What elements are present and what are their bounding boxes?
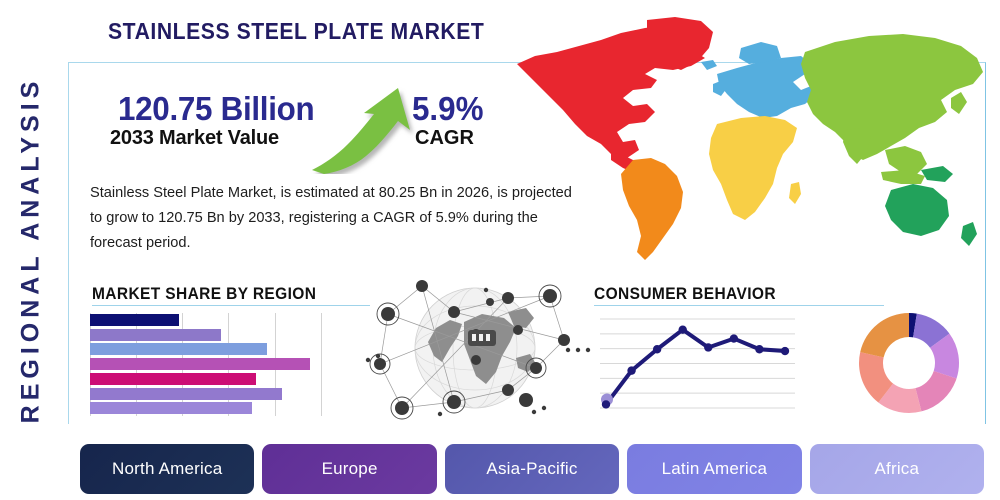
bar-chart-bar <box>90 358 310 370</box>
line-chart-marker <box>704 343 712 351</box>
line-chart-gridlines <box>600 319 795 408</box>
line-chart-marker <box>602 400 610 408</box>
bar-chart-row <box>90 401 330 416</box>
bar-chart-bar <box>90 373 256 385</box>
donut-segment <box>860 313 909 357</box>
line-chart-marker <box>627 366 635 374</box>
bar-chart-bar <box>90 388 282 400</box>
map-region-iceland <box>701 60 717 70</box>
page-title: STAINLESS STEEL PLATE MARKET <box>108 18 484 45</box>
global-network-icon <box>358 272 593 424</box>
market-value-figure: 120.75 Billion <box>118 90 314 128</box>
region-button[interactable]: North America <box>80 444 254 494</box>
donut-chart <box>857 311 961 415</box>
map-region-africa <box>709 116 797 220</box>
bar-chart-bar <box>90 402 252 414</box>
region-button[interactable]: Latin America <box>627 444 801 494</box>
region-button[interactable]: Africa <box>810 444 984 494</box>
donut-chart-svg <box>857 311 961 415</box>
line-chart-marker <box>755 345 763 353</box>
infographic-canvas: REGIONAL ANALYSIS STAINLESS STEEL PLATE … <box>0 0 1000 500</box>
map-region-southeast-asia <box>885 146 927 174</box>
market-share-bar-chart <box>90 313 330 416</box>
cagr-figure: 5.9% <box>412 90 483 128</box>
side-label: REGIONAL ANALYSIS <box>0 0 62 500</box>
section-rule-consumer-behavior <box>594 305 884 306</box>
donut-segment <box>915 371 956 411</box>
cagr-caption: CAGR <box>415 127 474 150</box>
market-value-caption: 2033 Market Value <box>110 127 279 150</box>
bar-chart-row <box>90 342 330 357</box>
bar-chart-row <box>90 328 330 343</box>
description-text: Stainless Steel Plate Market, is estimat… <box>90 181 585 256</box>
global-network-svg <box>358 272 593 424</box>
region-button-bar: North AmericaEuropeAsia-PacificLatin Ame… <box>80 444 984 494</box>
section-header-market-share: MARKET SHARE BY REGION <box>92 285 316 304</box>
bar-chart-bar <box>90 314 179 326</box>
map-region-india <box>843 128 871 164</box>
region-button[interactable]: Asia-Pacific <box>445 444 619 494</box>
globe-sphere <box>415 288 536 408</box>
consumer-behavior-line-chart <box>600 311 795 416</box>
bar-chart-row <box>90 313 330 328</box>
line-chart-svg <box>600 311 795 416</box>
bar-chart-bar <box>90 343 267 355</box>
bar-chart-row <box>90 357 330 372</box>
bar-chart-bar <box>90 329 221 341</box>
bar-chart-row <box>90 372 330 387</box>
map-region-japan <box>951 92 967 114</box>
donut-segments <box>859 313 959 413</box>
section-rule-market-share <box>92 305 370 306</box>
growth-arrow-icon <box>310 86 420 174</box>
section-header-consumer-behavior: CONSUMER BEHAVIOR <box>594 285 776 304</box>
line-chart-marker <box>730 334 738 342</box>
map-region-new-guinea <box>921 166 953 182</box>
hero-stats: 120.75 Billion 2033 Market Value 5.9% CA… <box>110 90 510 172</box>
map-region-australia <box>885 184 949 236</box>
line-chart-marker <box>781 347 789 355</box>
line-chart-marker <box>679 325 687 333</box>
map-region-south-america <box>621 158 683 260</box>
map-region-new-zealand <box>961 222 977 246</box>
bar-chart-rows <box>90 313 330 416</box>
map-region-madagascar <box>789 182 801 204</box>
region-button[interactable]: Europe <box>262 444 436 494</box>
bar-chart-row <box>90 387 330 402</box>
side-label-text: REGIONAL ANALYSIS <box>17 77 46 424</box>
line-chart-marker <box>653 345 661 353</box>
growth-arrow-svg <box>310 86 420 174</box>
